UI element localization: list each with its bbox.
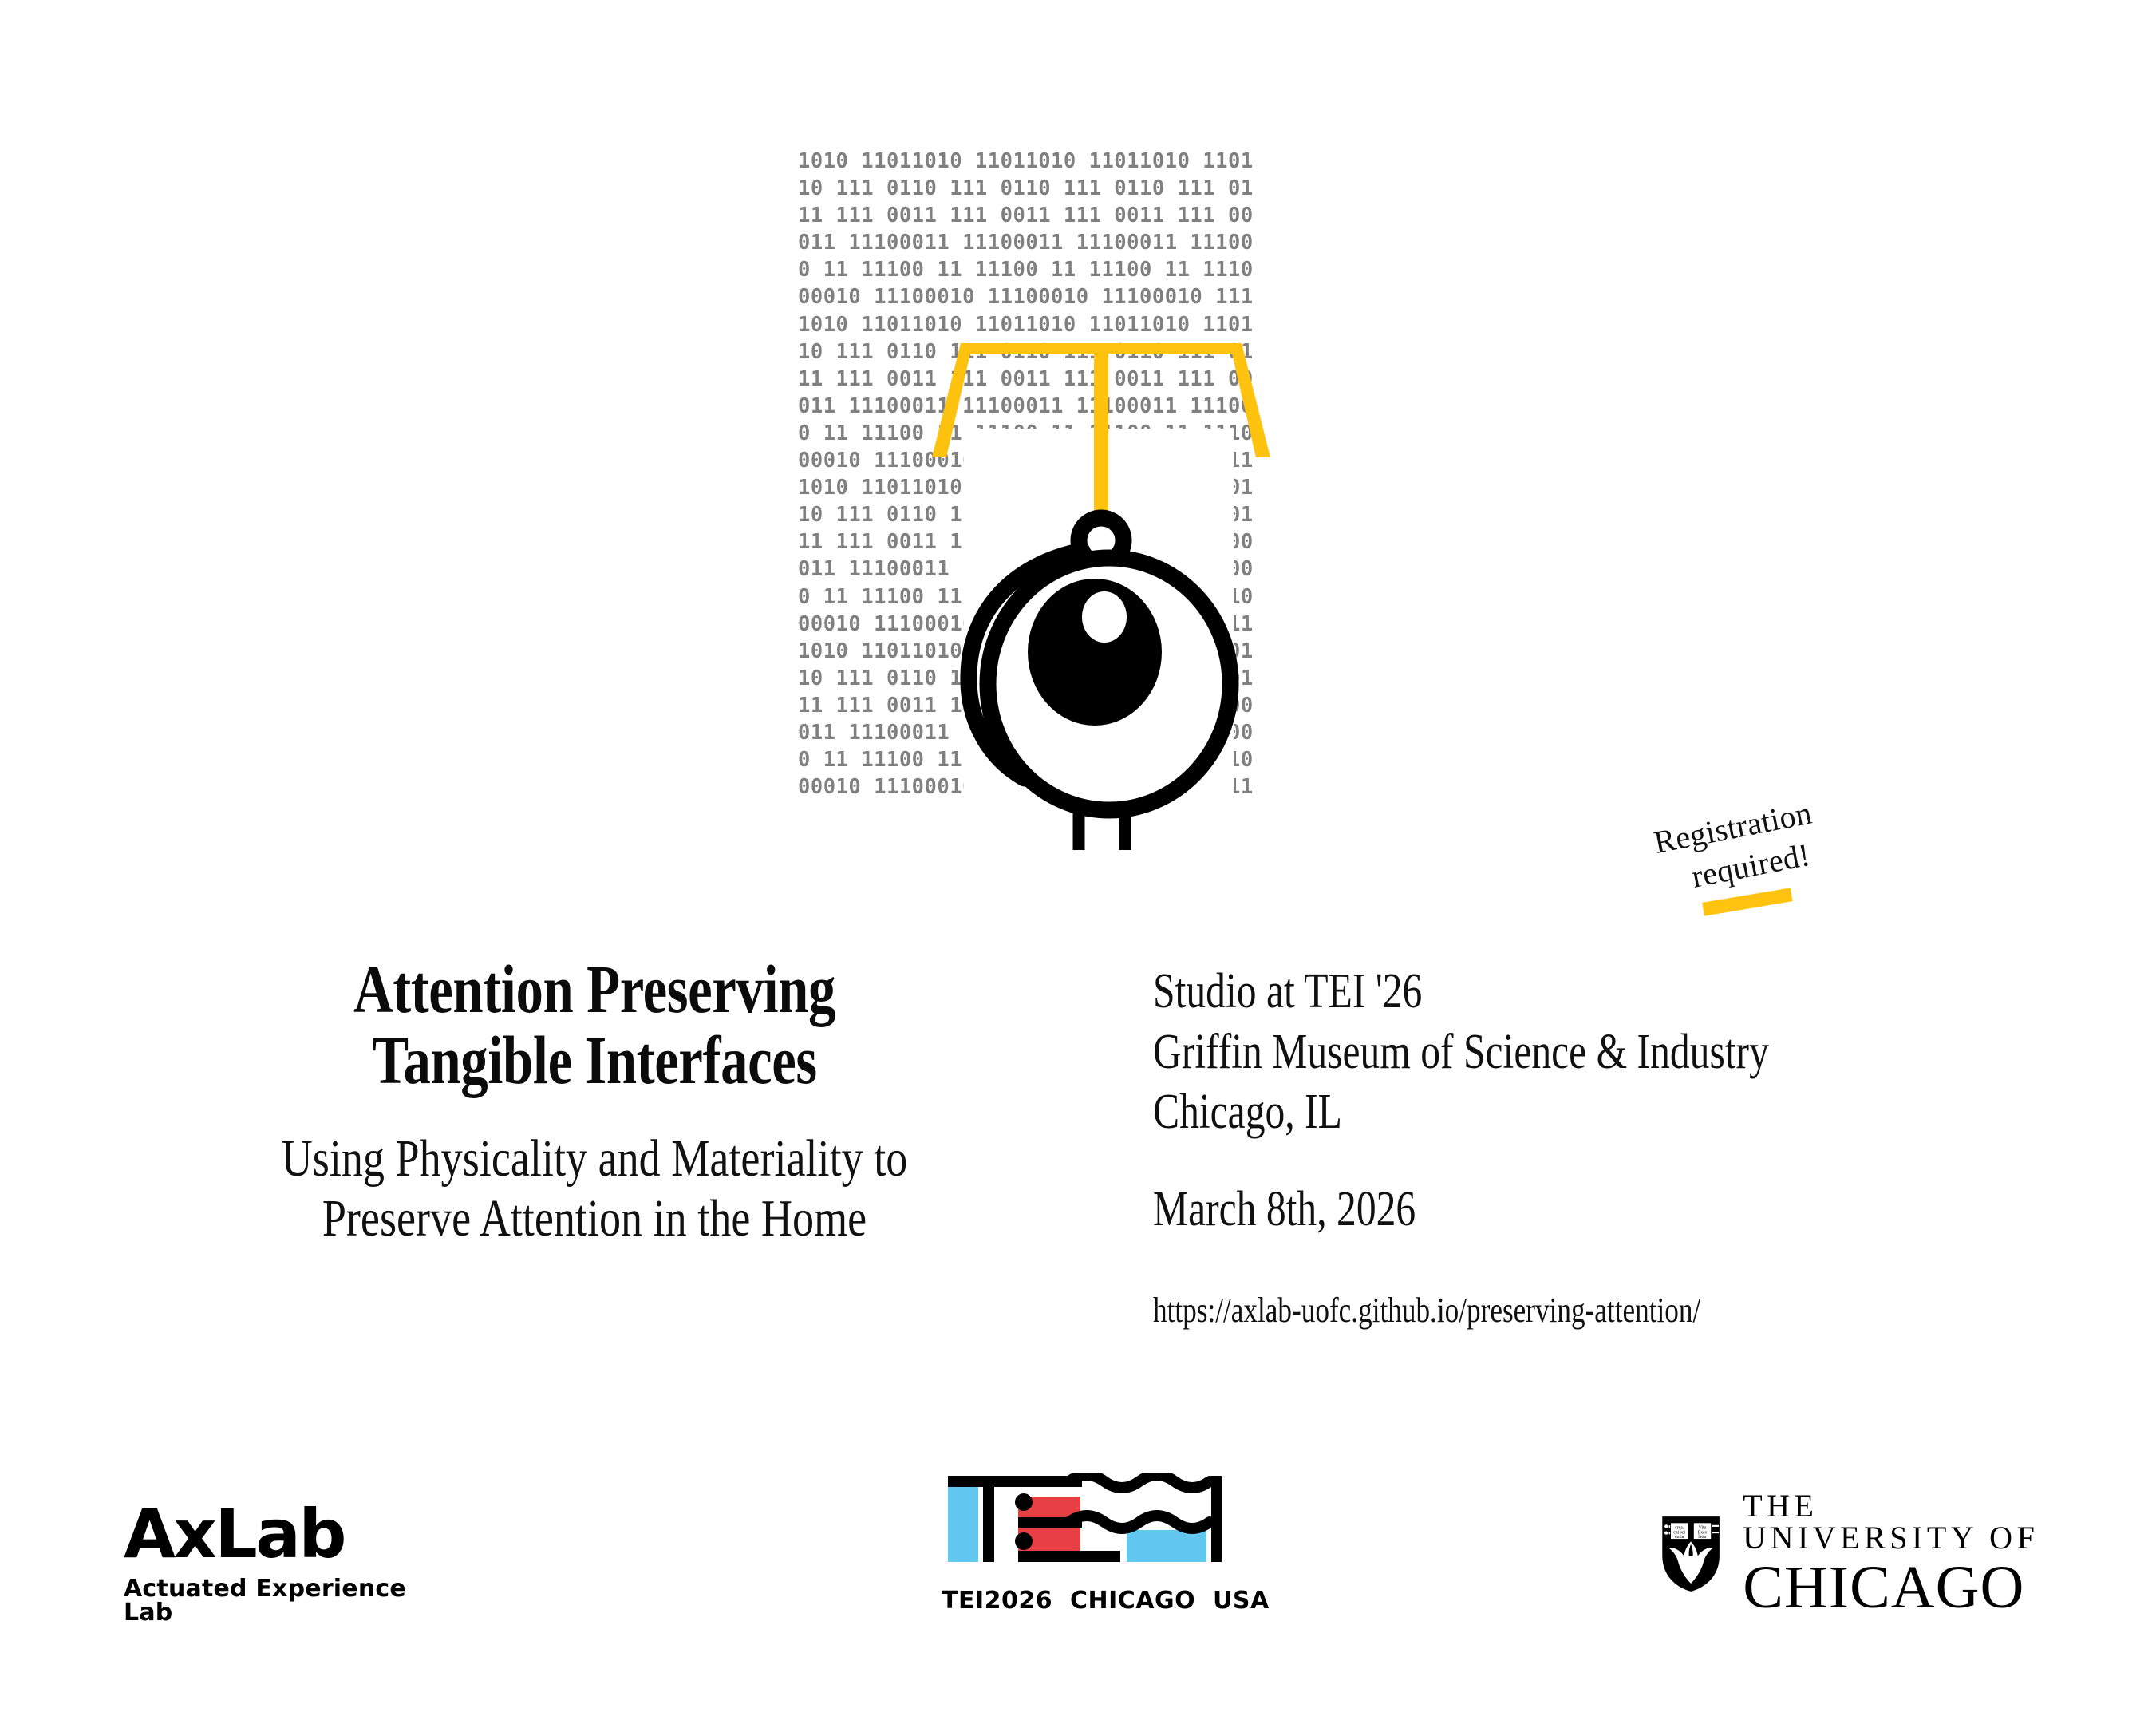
uchicago-phoenix-crest-icon: crea. cat sci entia Vita Exco latur [1660, 1507, 1722, 1601]
uchicago-line-2: CHICAGO [1743, 1557, 2059, 1618]
binary-row: 10 111 0110 111 0110 111 0110 111 01 [798, 175, 1404, 202]
binary-segment: 1010 1101 [798, 638, 912, 665]
binary-segment: 10 111 01 [1025, 175, 1139, 202]
binary-segment: 0 11 1110 [798, 420, 912, 447]
binary-segment: 011 11100 [1025, 393, 1139, 420]
binary-segment: 0 11 1110 [912, 256, 1026, 283]
binary-segment: 10 111 01 [1139, 338, 1254, 366]
binary-segment: 11 111 00 [1025, 366, 1139, 393]
event-url[interactable]: https://axlab-uofc.github.io/preserving-… [1153, 1290, 1855, 1332]
binary-segment: 10 111 01 [912, 175, 1026, 202]
tei-logo: TEI2026 CHICAGO USA [942, 1473, 1253, 1615]
binary-segment: 011 11100 [1139, 229, 1254, 256]
binary-segment: 11 111 00 [912, 202, 1026, 229]
binary-segment: 00010 111 [798, 611, 912, 638]
uchicago-line-1: THE UNIVERSITY OF [1743, 1490, 2059, 1554]
uchicago-logo: crea. cat sci entia Vita Exco latur THE … [1660, 1490, 2059, 1618]
poster-canvas: 1010 11011010 11011010 11011010 110110 1… [0, 0, 2156, 1724]
event-venue: Griffin Museum of Science & Industry [1153, 1022, 1855, 1083]
binary-row: 1010 11011010 11011010 11011010 1101 [798, 311, 1404, 338]
binary-segment: 1010 1101 [1139, 148, 1254, 175]
tei-logo-mark [942, 1473, 1253, 1578]
binary-segment: 011 11100 [798, 556, 912, 583]
binary-segment: 1010 1101 [1025, 311, 1139, 338]
binary-segment: 011 11100 [912, 229, 1026, 256]
binary-segment: 1010 1101 [912, 311, 1026, 338]
binary-segment: 00010 111 [798, 447, 912, 474]
uchicago-wordmark: THE UNIVERSITY OF CHICAGO [1743, 1490, 2059, 1618]
binary-segment: 011 11100 [1025, 229, 1139, 256]
binary-segment: 1010 1101 [1025, 148, 1139, 175]
binary-segment: 1010 1101 [798, 474, 912, 501]
binary-segment: 0 11 1110 [798, 583, 912, 611]
svg-text:entia: entia [1675, 1535, 1684, 1540]
binary-segment: 00010 111 [798, 283, 912, 310]
binary-segment: 1010 1101 [912, 148, 1026, 175]
binary-segment: 10 111 01 [1025, 338, 1139, 366]
binary-segment: 1010 1101 [1139, 311, 1254, 338]
page-subtitle: Using Physicality and Materiality to Pre… [225, 1129, 965, 1248]
binary-segment: 00010 111 [1139, 283, 1254, 310]
subtitle-line-2: Preserve Attention in the Home [322, 1189, 867, 1248]
binary-segment: 11 111 00 [1139, 202, 1254, 229]
tei-logo-caption: TEI2026 CHICAGO USA [942, 1587, 1253, 1615]
axlab-tagline: Actuated Experience Lab [124, 1577, 443, 1625]
binary-segment: 10 111 01 [1139, 175, 1254, 202]
binary-segment: 11 111 00 [1025, 202, 1139, 229]
binary-segment: 011 11100 [1139, 393, 1254, 420]
binary-segment: 011 11100 [798, 229, 912, 256]
binary-segment: 00010 111 [1025, 283, 1139, 310]
footer-logos: AxLab Actuated Experience Lab [0, 1473, 2156, 1672]
binary-segment: 0 11 1110 [1139, 256, 1254, 283]
event-details: Studio at TEI '26 Griffin Museum of Scie… [1153, 962, 2031, 1331]
binary-segment: 0 11 1110 [1025, 256, 1139, 283]
title-block: Attention Preserving Tangible Interfaces… [144, 954, 1045, 1249]
title-line-1: Attention Preserving [353, 951, 835, 1027]
binary-segment: 011 11100 [798, 719, 912, 746]
binary-segment: 11 111 00 [1139, 366, 1254, 393]
binary-segment: 1010 1101 [798, 148, 912, 175]
registration-badge: Registration required! [1612, 785, 1876, 979]
mascot-knockout [964, 429, 1234, 850]
binary-segment: 0 11 1110 [798, 746, 912, 773]
event-date: March 8th, 2026 [1153, 1180, 1855, 1240]
title-line-2: Tangible Interfaces [372, 1022, 816, 1098]
binary-segment: 11 111 00 [912, 366, 1026, 393]
event-city: Chicago, IL [1153, 1082, 1855, 1143]
binary-segment: 10 111 01 [912, 338, 1026, 366]
binary-row: 011 11100011 11100011 11100011 11100 [798, 229, 1404, 256]
binary-segment: 00010 111 [912, 283, 1026, 310]
binary-segment: 1010 1101 [798, 311, 912, 338]
binary-segment: 0 11 1110 [798, 256, 912, 283]
axlab-wordmark: AxLab [124, 1501, 443, 1568]
binary-segment: 10 111 01 [798, 175, 912, 202]
subtitle-line-1: Using Physicality and Materiality to [282, 1129, 908, 1188]
binary-segment: 10 111 01 [798, 665, 912, 692]
binary-segment: 00010 111 [798, 773, 912, 801]
binary-segment: 10 111 01 [798, 338, 912, 366]
binary-row: 0 11 11100 11 11100 11 11100 11 1110 [798, 256, 1404, 283]
binary-row: 011 11100011 11100011 11100011 11100 [798, 393, 1404, 420]
binary-segment: 10 111 01 [798, 501, 912, 528]
binary-segment: 11 111 00 [798, 202, 912, 229]
event-type: Studio at TEI '26 [1153, 962, 1855, 1022]
binary-row: 11 111 0011 111 0011 111 0011 111 00 [798, 366, 1404, 393]
hero-illustration: 1010 11011010 11011010 11011010 110110 1… [798, 148, 1404, 850]
binary-row: 1010 11011010 11011010 11011010 1101 [798, 148, 1404, 175]
binary-row: 11 111 0011 111 0011 111 0011 111 00 [798, 202, 1404, 229]
binary-segment: 011 11100 [912, 393, 1026, 420]
binary-row: 00010 11100010 11100010 11100010 111 [798, 283, 1404, 310]
svg-text:latur: latur [1698, 1535, 1707, 1540]
binary-segment: 11 111 00 [798, 366, 912, 393]
binary-segment: 011 11100 [798, 393, 912, 420]
axlab-logo: AxLab Actuated Experience Lab [124, 1501, 443, 1625]
binary-segment: 11 111 00 [798, 692, 912, 719]
page-title: Attention Preserving Tangible Interfaces [234, 954, 955, 1095]
binary-segment: 11 111 00 [798, 528, 912, 556]
binary-row: 10 111 0110 111 0110 111 0110 111 01 [798, 338, 1404, 366]
